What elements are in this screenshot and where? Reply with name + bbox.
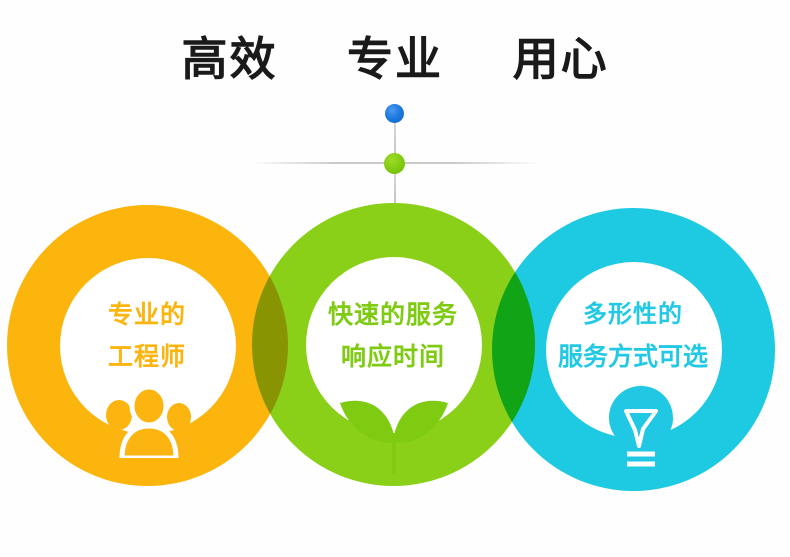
ring-green-label-line2: 响应时间 <box>273 336 513 378</box>
ring-cyan-label-line2: 服务方式可选 <box>513 336 753 378</box>
ring-cluster <box>0 0 790 557</box>
ring-cyan-label: 多形性的 服务方式可选 <box>513 294 753 378</box>
infographic-canvas: 高效 专业 用心 专业的 工程师 <box>0 0 790 557</box>
ring-orange-label-line1: 专业的 <box>27 294 267 336</box>
ring-cyan-label-line1: 多形性的 <box>513 294 753 336</box>
ring-orange-label-line2: 工程师 <box>27 336 267 378</box>
ring-green-label-line1: 快速的服务 <box>273 294 513 336</box>
lightbulb-icon <box>601 384 681 468</box>
sprout-leaf-icon <box>334 381 454 473</box>
three-people-icon <box>97 386 201 458</box>
ring-orange-label: 专业的 工程师 <box>27 294 267 378</box>
ring-green-label: 快速的服务 响应时间 <box>273 294 513 378</box>
